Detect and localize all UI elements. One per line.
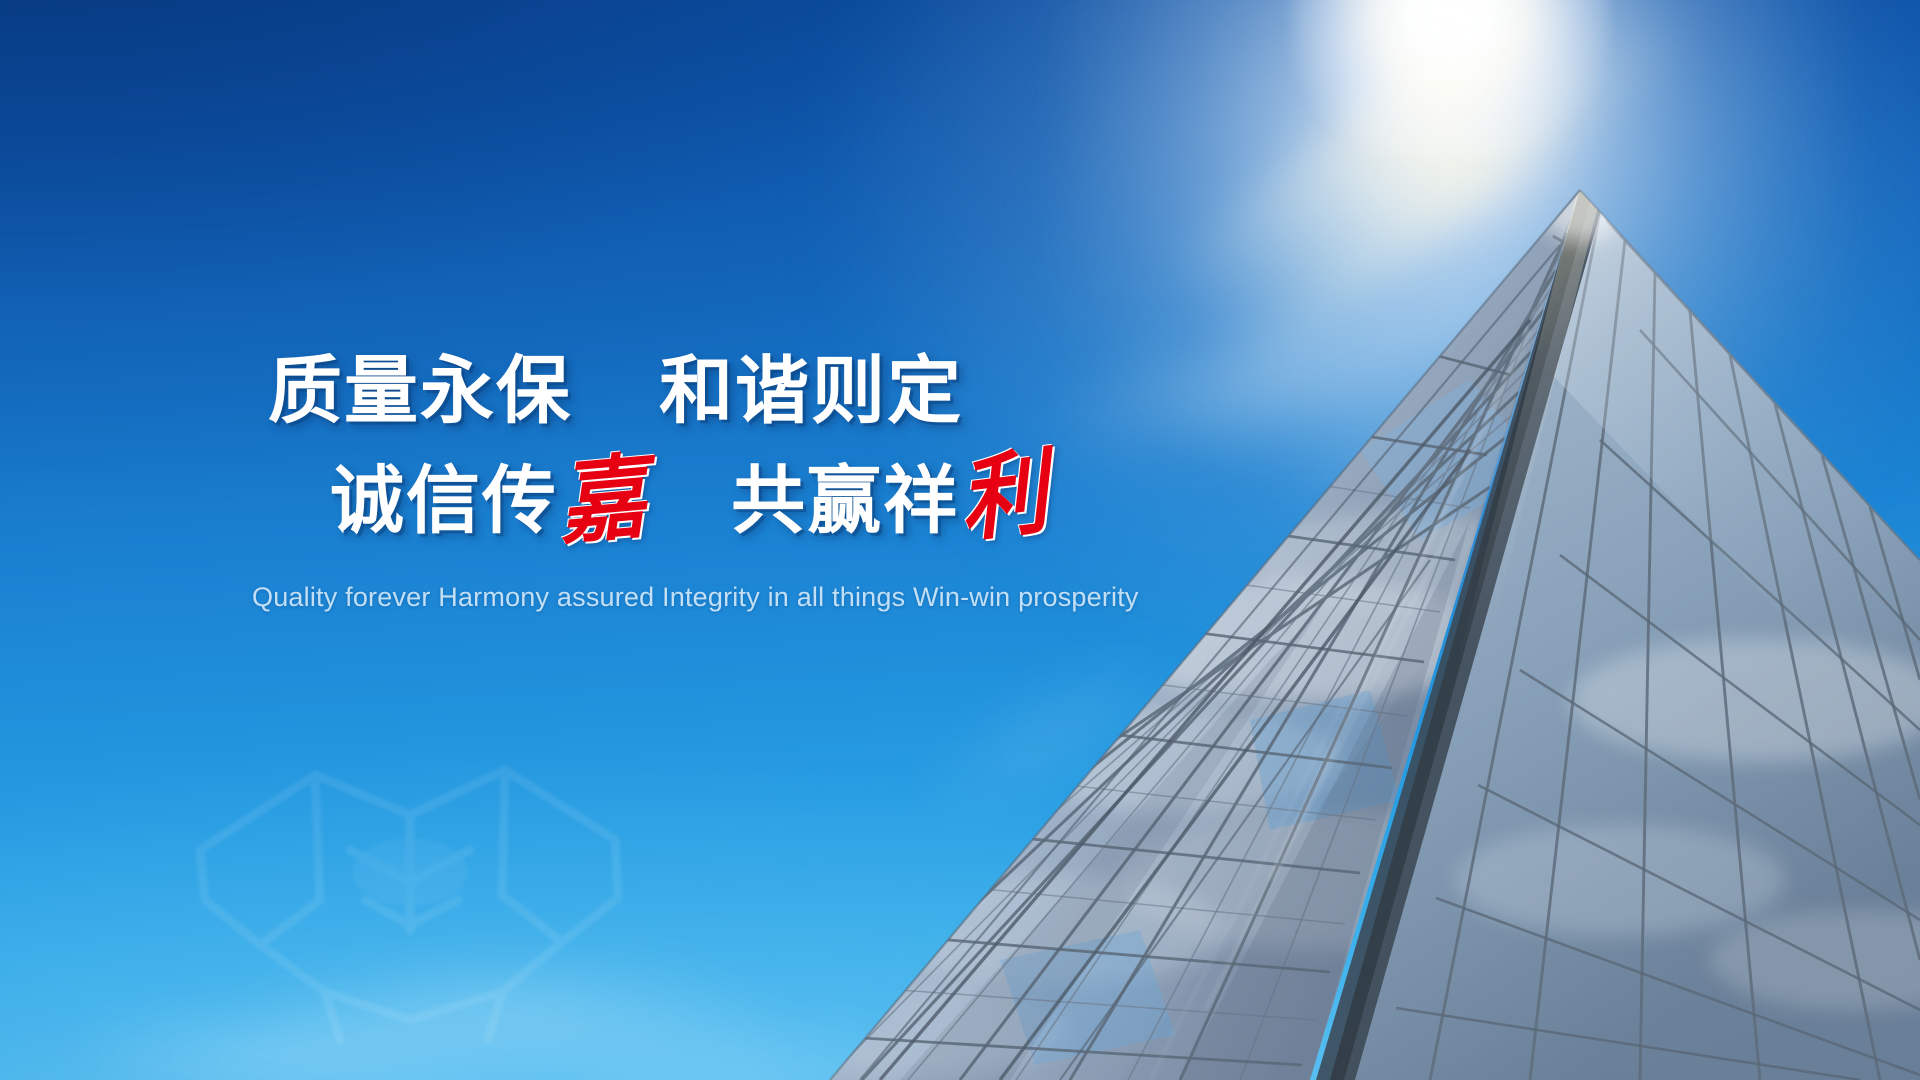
headline-line1-part1: 质量永保 [268,349,572,432]
headline-line2-part1: 诚信传 [330,459,558,542]
headline-line-1: 质量永保 和谐则定 [268,352,1228,430]
banner-text-block: 质量永保 和谐则定 诚信传嘉 共赢祥利 Quality forever Harm… [248,352,1228,613]
headline-line2-part2: 共赢祥 [731,459,959,542]
accent-character-jia: 嘉 [554,449,651,554]
headline-line-2: 诚信传嘉 共赢祥利 [330,446,1228,544]
headline-line1-part2: 和谐则定 [659,349,963,432]
promotional-banner: 质量永保 和谐则定 诚信传嘉 共赢祥利 Quality forever Harm… [0,0,1920,1080]
english-subtitle: Quality forever Harmony assured Integrit… [252,582,1228,613]
accent-character-li: 利 [954,443,1055,551]
sun-glare-icon [1290,0,1610,160]
